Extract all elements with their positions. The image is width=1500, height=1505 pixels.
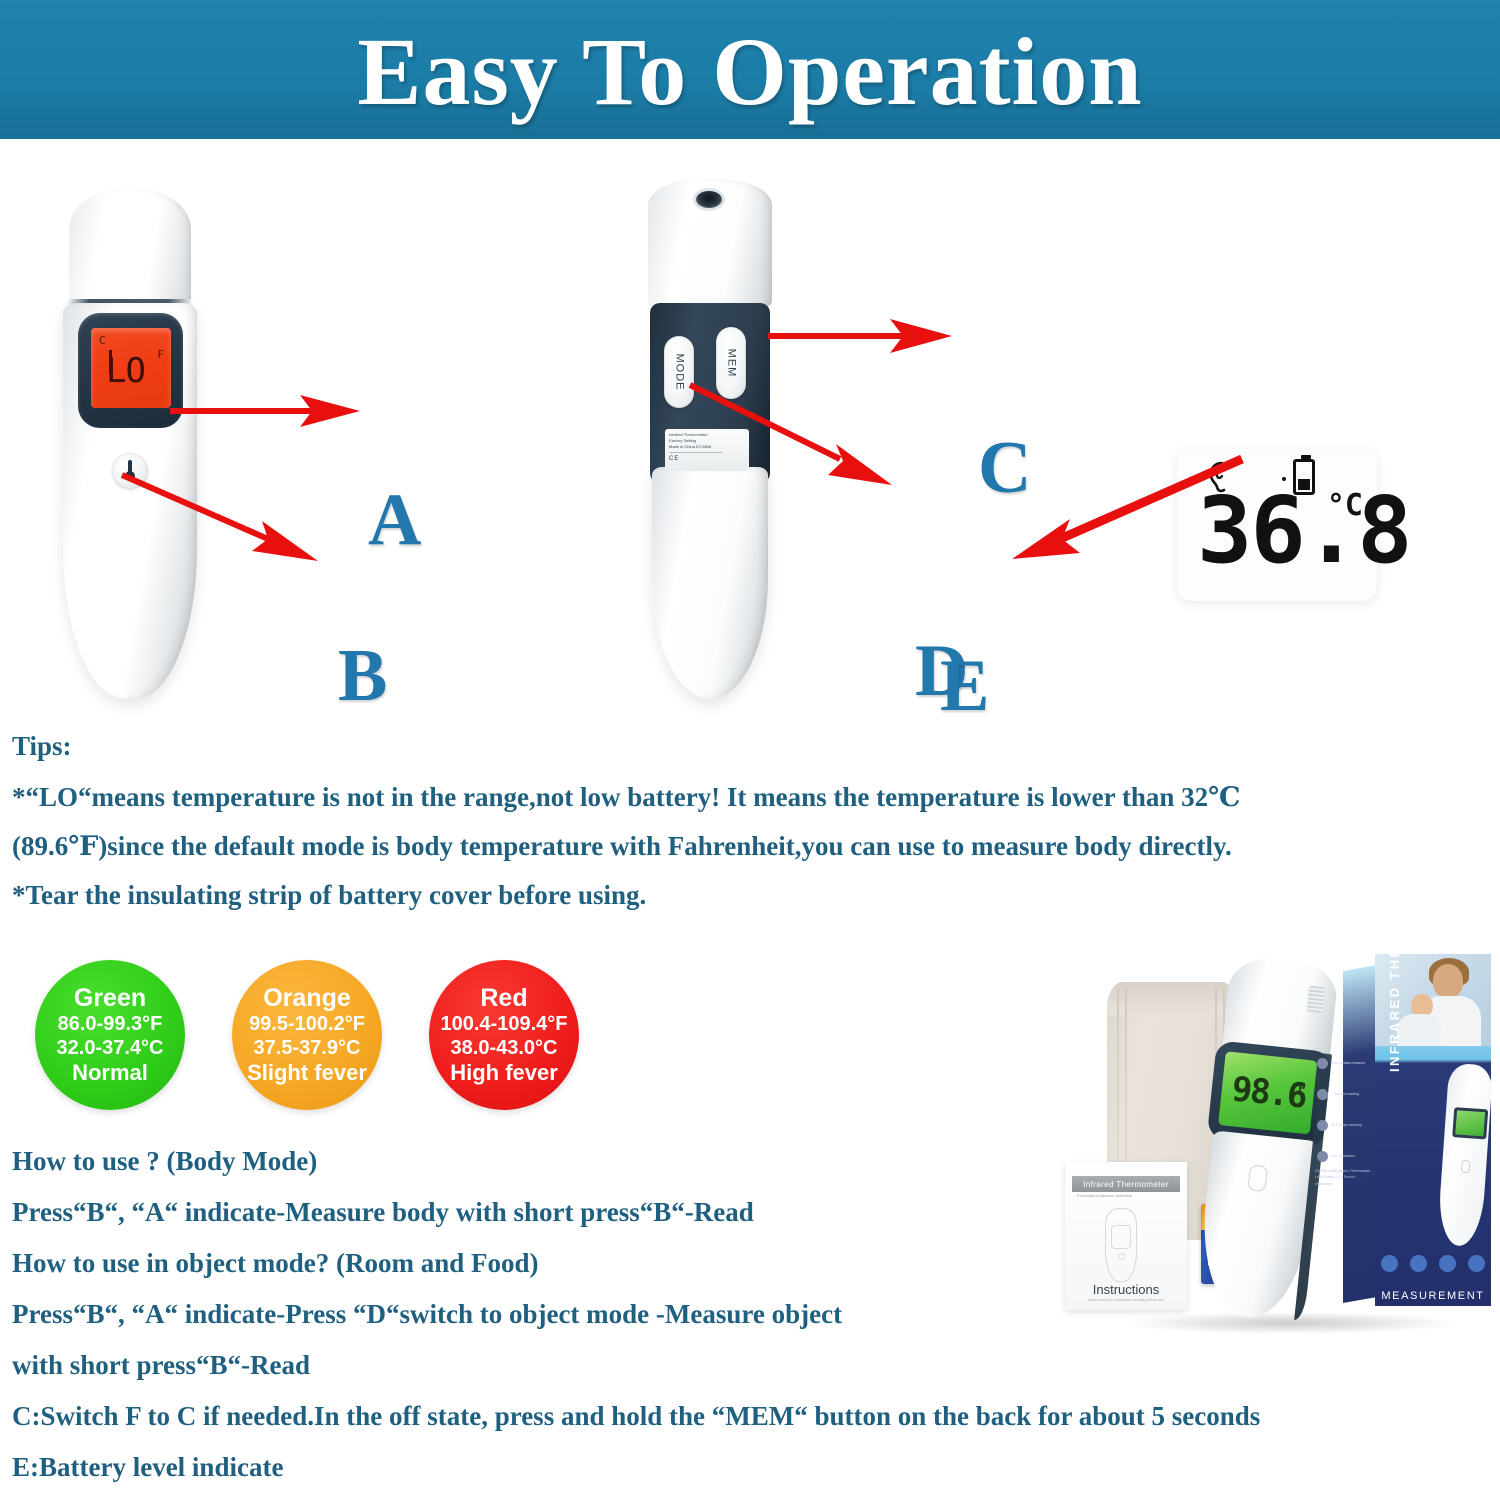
lcd-fahrenheit-marker: F [157, 348, 164, 361]
range-circle-orange: Orange 99.5-100.2°F 37.5-37.9°C Slight f… [232, 960, 382, 1110]
retail-box-product-lcd [1452, 1107, 1488, 1139]
range-celsius: 38.0-43.0°C [451, 1036, 558, 1060]
device-back-body [652, 467, 768, 699]
manual-subheader: Forehead of eardrum detection [1077, 1193, 1132, 1198]
mode-button[interactable]: MODE [664, 336, 694, 408]
mem-button[interactable]: MEM [716, 327, 746, 399]
lcd-celsius-marker: C [99, 334, 106, 347]
box-feature-icon-2 [1410, 1255, 1427, 1272]
page-title: Easy To Operation [357, 24, 1142, 120]
header-banner: Easy To Operation [0, 0, 1500, 139]
thermometer-front-view: C F LO [55, 189, 205, 699]
retail-box-feature-list: Non-contact measure 1 Second reading 32 … [1317, 1058, 1369, 1182]
thermometer-icon [125, 460, 135, 482]
range-name: Red [480, 984, 527, 1012]
retail-box-fine-print: CE/FDA certifications • Thermometer • AA… [1315, 1168, 1371, 1187]
retail-box-icon-row [1381, 1255, 1485, 1272]
range-name: Green [74, 984, 146, 1012]
mode-button-label: MODE [673, 354, 685, 391]
callout-label-b: B [338, 639, 387, 713]
howto-line-7: E:Battery level indicate [12, 1454, 1492, 1481]
bullet-dot-icon [1317, 1120, 1328, 1131]
thermometer-back-view: MODE MEM Infrared Thermometer Factory Se… [640, 179, 780, 699]
range-fahrenheit: 99.5-100.2°F [249, 1012, 365, 1036]
range-status: Slight fever [247, 1060, 367, 1085]
range-circle-red: Red 100.4-109.4°F 38.0-43.0°C High fever [429, 960, 579, 1110]
arrow-to-c [768, 319, 952, 353]
manual-note-text: Useful read the instructions carefully b… [1065, 1298, 1187, 1302]
callout-label-a: A [368, 483, 421, 557]
bullet-dot-icon [1317, 1058, 1328, 1069]
range-fahrenheit: 86.0-99.3°F [58, 1012, 163, 1036]
range-circle-green: Green 86.0-99.3°F 32.0-37.4°C Normal [35, 960, 185, 1110]
mem-button-label: MEM [725, 349, 737, 378]
range-fahrenheit: 100.4-109.4°F [441, 1012, 568, 1036]
range-celsius: 37.5-37.9°C [254, 1036, 361, 1060]
feature-text: Auto shutdown [1331, 1154, 1355, 1159]
bullet-dot-icon [1317, 1089, 1328, 1100]
photo-baby-body [1397, 1014, 1441, 1046]
product-diagram: C F LO MODE MEM Infrared Thermometer Fac… [0, 139, 1500, 739]
product-photo-lcd: 98.6 °F [1218, 1051, 1317, 1134]
howto-line-6: C:Switch F to C if needed.In the off sta… [12, 1403, 1492, 1430]
callout-label-c: C [978, 431, 1031, 505]
feature-bullet: Auto shutdown [1317, 1151, 1369, 1162]
lcd-reading-value: LO [106, 354, 145, 388]
manual-device-illustration [1105, 1208, 1137, 1282]
product-photo-vent [1306, 986, 1325, 1014]
callout-label-e: E [940, 649, 989, 723]
range-name: Orange [263, 984, 351, 1012]
photo-mother-head [1433, 964, 1463, 998]
range-celsius: 32.0-37.4°C [57, 1036, 164, 1060]
tips-line-2: (89.6℉)since the default mode is body te… [12, 833, 1482, 860]
tips-line-3: *Tear the insulating strip of battery co… [12, 882, 1482, 909]
lcd-display-card: 36.8 °C [1177, 449, 1377, 601]
device-spec-label: Infrared Thermometer Factory Setting Mad… [665, 429, 749, 471]
pouch-string-left [1117, 988, 1119, 1168]
manual-header-text: Infrared Thermometer [1083, 1180, 1169, 1189]
feature-bullet: Non-contact measure [1317, 1058, 1369, 1069]
retail-box-footer: MEASUREMENT [1375, 1290, 1491, 1302]
retail-box-title: INFRARED THERMOMETER [1387, 851, 1402, 1072]
device-front-lcd: C F LO [91, 328, 171, 408]
package-contents-photo: Infrared Thermometer Forehead of eardrum… [1055, 940, 1500, 1360]
feature-bullet: 32 Groups memory [1317, 1120, 1369, 1131]
power-measure-button[interactable] [112, 453, 148, 489]
retail-box-product-button [1461, 1160, 1471, 1174]
feature-text: 1 Second reading [1331, 1092, 1359, 1097]
manual-header-bar: Infrared Thermometer [1072, 1176, 1180, 1192]
spec-label-divider [669, 452, 722, 453]
range-status: Normal [72, 1060, 148, 1085]
temperature-range-legend: Green 86.0-99.3°F 32.0-37.4°C Normal Ora… [20, 950, 580, 1125]
sensor-aperture-icon [696, 191, 722, 208]
product-photo-lcd-unit: °F [1290, 1080, 1306, 1095]
box-feature-icon-3 [1439, 1255, 1456, 1272]
bullet-dot-icon [1317, 1151, 1328, 1162]
box-feature-icon-4 [1468, 1255, 1485, 1272]
range-status: High fever [450, 1060, 558, 1085]
box-feature-icon-1 [1381, 1255, 1398, 1272]
device-front-head [69, 189, 191, 307]
tips-heading: Tips: [12, 733, 1482, 760]
feature-text: 32 Groups memory [1331, 1123, 1362, 1128]
feature-text: Non-contact measure [1331, 1061, 1365, 1066]
manual-title-text: Instructions [1065, 1282, 1187, 1297]
lcd-temperature-unit: °C [1327, 491, 1363, 521]
instruction-manual: Infrared Thermometer Forehead of eardrum… [1065, 1162, 1187, 1310]
tips-line-1: *“LO“means temperature is not in the ran… [12, 784, 1482, 811]
tips-section: Tips: *“LO“means temperature is not in t… [12, 733, 1482, 931]
spec-label-line3: Made in China DT-8806 [669, 444, 745, 450]
pouch-string-left2 [1125, 988, 1127, 1168]
ce-mark-icon: CE [669, 456, 745, 462]
retail-box: Non-contact measure 1 Second reading 32 … [1343, 954, 1493, 1314]
feature-bullet: 1 Second reading [1317, 1089, 1369, 1100]
lcd-temperature-value: 36.8 [1197, 485, 1411, 577]
